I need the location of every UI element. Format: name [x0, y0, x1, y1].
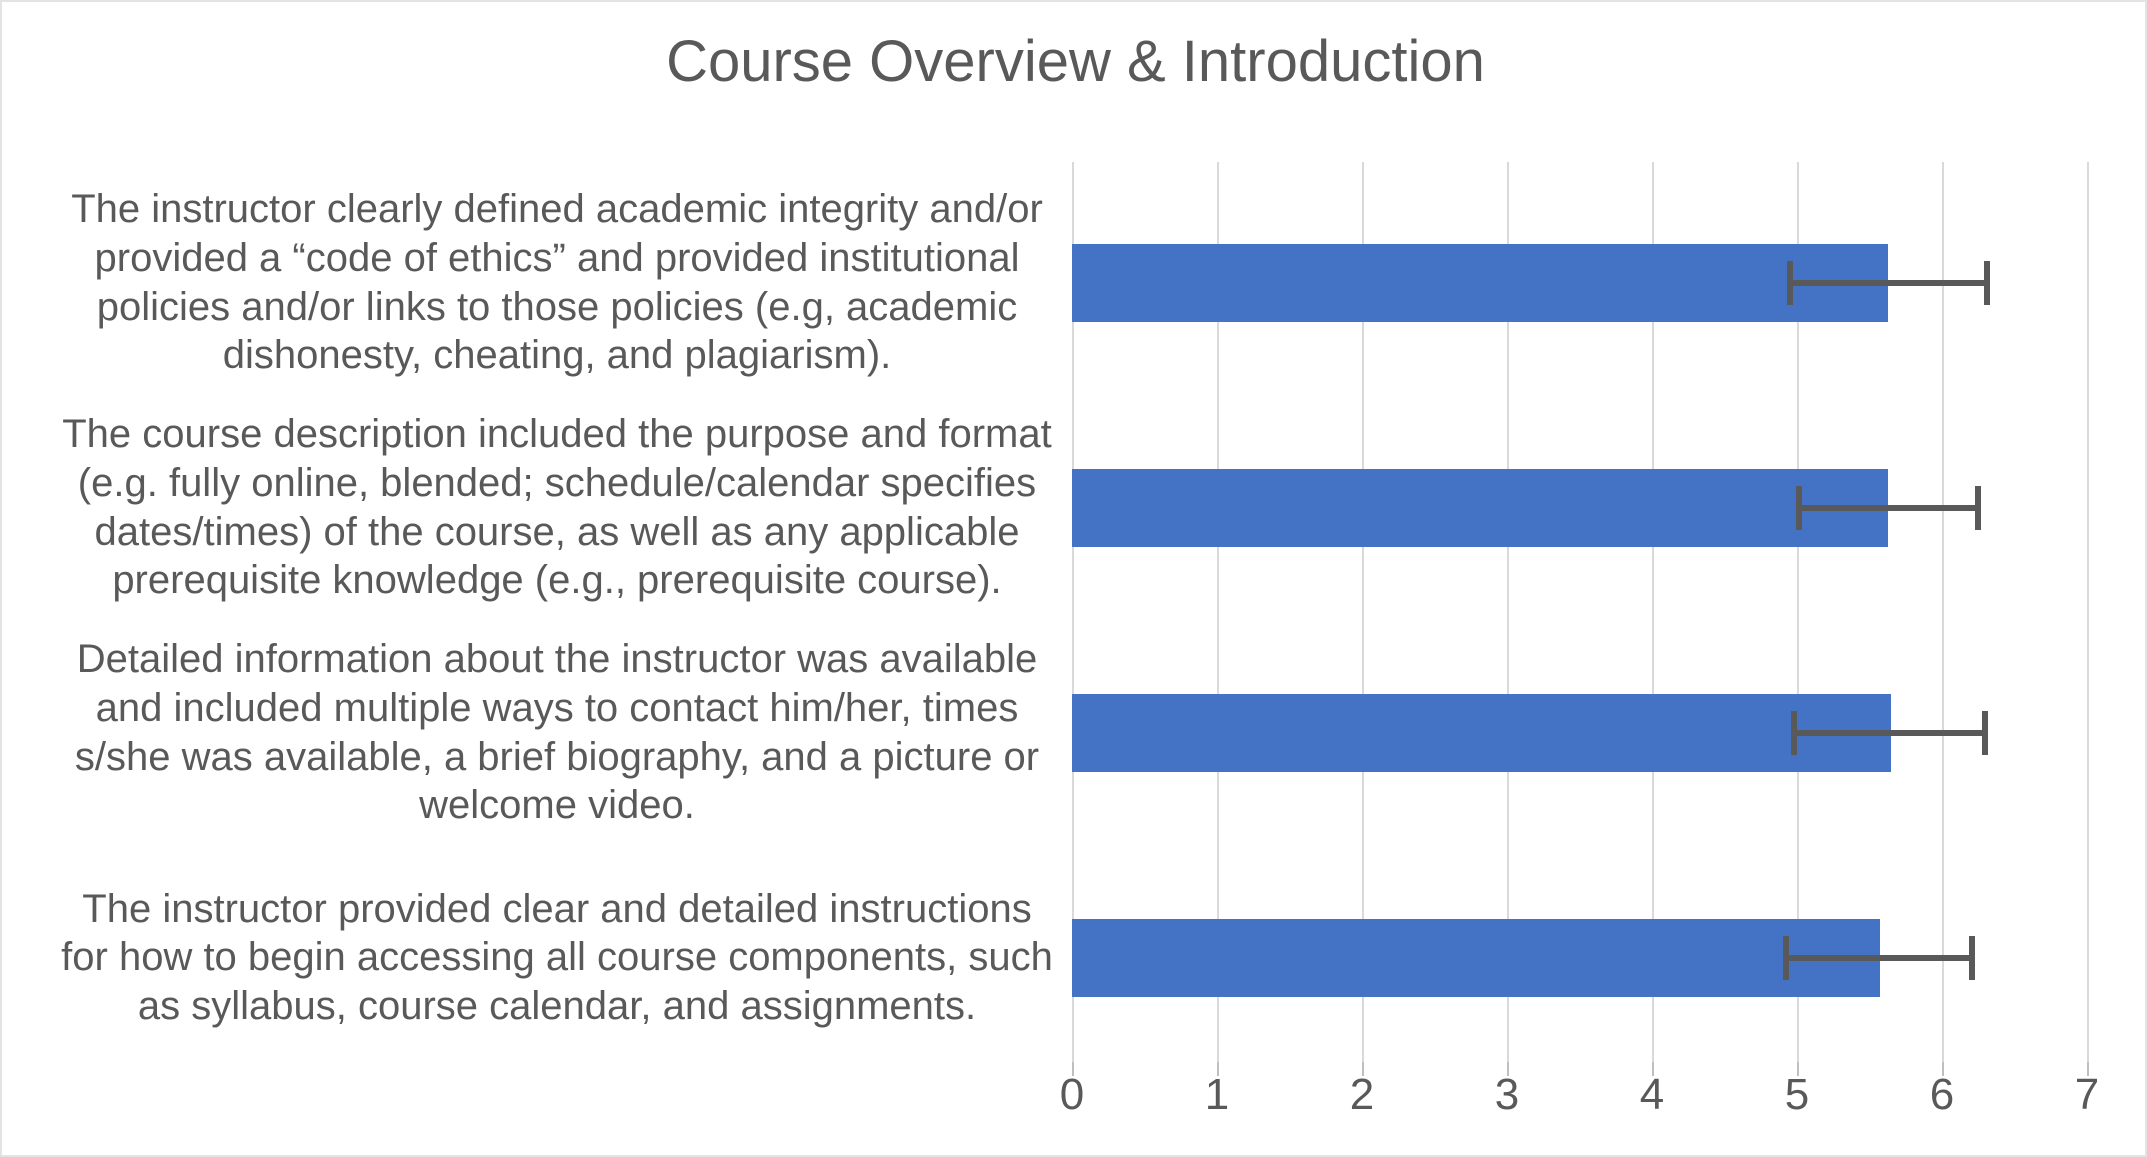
error-bar-line [1791, 730, 1988, 736]
error-bar-line [1783, 955, 1976, 961]
bar [1072, 244, 1888, 322]
error-bar-cap-high [1982, 711, 1988, 755]
bar [1072, 919, 1880, 997]
error-bar-cap-high [1984, 261, 1990, 305]
gridline [2087, 162, 2089, 1062]
category-label: The instructor clearly defined academic … [57, 185, 1057, 380]
x-tick-label: 4 [1612, 1070, 1692, 1120]
x-tick-label: 1 [1177, 1070, 1257, 1120]
x-tick-label: 5 [1757, 1070, 1837, 1120]
error-bar-cap-low [1783, 936, 1789, 980]
chart-page: Course Overview & Introduction The instr… [0, 0, 2147, 1157]
gridline [1942, 162, 1944, 1062]
bar [1072, 469, 1888, 547]
error-bar-cap-high [1975, 486, 1981, 530]
category-label: The instructor provided clear and detail… [57, 885, 1057, 1031]
x-tick-label: 0 [1032, 1070, 1112, 1120]
category-label: Detailed information about the instructo… [57, 635, 1057, 830]
error-bar-line [1787, 280, 1990, 286]
bar [1072, 694, 1891, 772]
x-tick-label: 6 [1902, 1070, 1982, 1120]
category-label: The course description included the purp… [57, 410, 1057, 605]
x-tick-label: 7 [2047, 1070, 2127, 1120]
error-bar-cap-high [1969, 936, 1975, 980]
x-tick-label: 3 [1467, 1070, 1547, 1120]
x-tick-label: 2 [1322, 1070, 1402, 1120]
error-bar-cap-low [1791, 711, 1797, 755]
chart-title: Course Overview & Introduction [2, 28, 2147, 95]
plot-area [1072, 162, 2087, 1062]
error-bar-cap-low [1796, 486, 1802, 530]
error-bar-cap-low [1787, 261, 1793, 305]
error-bar-line [1796, 505, 1982, 511]
